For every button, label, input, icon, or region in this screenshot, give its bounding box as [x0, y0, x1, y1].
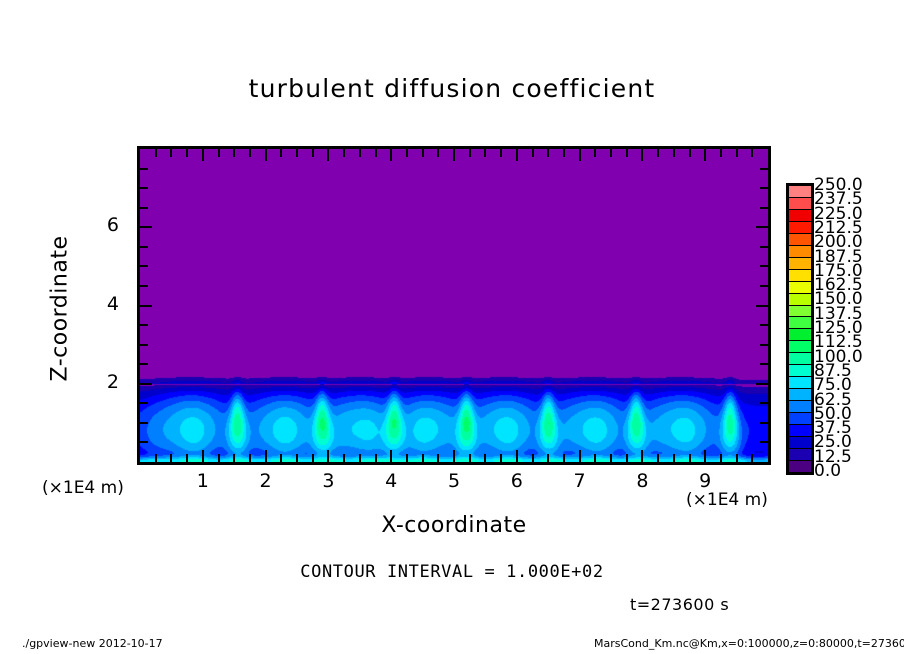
- colorbar-band: [789, 329, 811, 341]
- x-tick: [312, 454, 314, 462]
- colorbar-band: [789, 234, 811, 246]
- colorbar-band: [789, 294, 811, 306]
- x-axis-title: X-coordinate: [137, 513, 771, 538]
- y-tick: [140, 168, 148, 170]
- colorbar-band: [789, 353, 811, 365]
- x-tick: [579, 450, 581, 462]
- x-tick-top: [469, 149, 471, 157]
- y-tick: [140, 305, 152, 307]
- y-tick-right: [760, 441, 768, 443]
- colorbar-band: [789, 246, 811, 258]
- y-tick-right: [756, 383, 768, 385]
- x-tick-label: 7: [560, 470, 600, 492]
- x-tick: [422, 454, 424, 462]
- x-tick: [516, 450, 518, 462]
- y-axis-title: Z-coordinate: [48, 209, 73, 409]
- plot-area[interactable]: [137, 146, 771, 465]
- x-tick-top: [170, 149, 172, 157]
- x-tick: [469, 454, 471, 462]
- x-tick: [265, 450, 267, 462]
- x-tick: [186, 454, 188, 462]
- x-tick: [406, 454, 408, 462]
- x-tick: [500, 454, 502, 462]
- x-tick-top: [359, 149, 361, 157]
- x-tick-top: [218, 149, 220, 157]
- x-tick: [155, 454, 157, 462]
- x-tick-top: [312, 149, 314, 157]
- x-tick-top: [280, 149, 282, 157]
- y-tick-right: [760, 246, 768, 248]
- y-tick: [140, 383, 152, 385]
- x-tick: [280, 454, 282, 462]
- x-tick-top: [296, 149, 298, 157]
- y-tick-right: [760, 363, 768, 365]
- x-tick: [343, 454, 345, 462]
- x-unit-left-label: (×1E4 m): [42, 478, 124, 498]
- x-tick-top: [594, 149, 596, 157]
- page-title: turbulent diffusion coefficient: [0, 74, 904, 103]
- y-tick-right: [760, 187, 768, 189]
- x-tick: [453, 450, 455, 462]
- y-tick-label: 4: [85, 293, 119, 315]
- x-tick: [390, 450, 392, 462]
- colorbar-band: [789, 270, 811, 282]
- colorbar-band: [789, 425, 811, 437]
- colorbar-band: [789, 186, 811, 198]
- y-tick-right: [756, 226, 768, 228]
- x-tick: [736, 454, 738, 462]
- x-tick: [359, 454, 361, 462]
- colorbar-band: [789, 306, 811, 318]
- x-tick-top: [422, 149, 424, 157]
- x-tick: [641, 450, 643, 462]
- y-tick: [140, 226, 152, 228]
- y-tick: [140, 344, 148, 346]
- x-tick-top: [532, 149, 534, 157]
- y-tick-right: [760, 344, 768, 346]
- x-tick: [375, 454, 377, 462]
- x-tick-top: [406, 149, 408, 157]
- time-stamp-label: t=273600 s: [630, 595, 729, 614]
- x-tick: [673, 454, 675, 462]
- colorbar-band: [789, 461, 811, 472]
- x-tick-top: [453, 149, 455, 161]
- colorbar-band: [789, 222, 811, 234]
- x-tick-top: [155, 149, 157, 157]
- y-tick: [140, 207, 148, 209]
- x-tick-top: [720, 149, 722, 157]
- x-tick: [327, 450, 329, 462]
- x-tick-top: [673, 149, 675, 157]
- y-tick-right: [760, 285, 768, 287]
- colorbar-band: [789, 317, 811, 329]
- x-tick-top: [500, 149, 502, 157]
- colorbar[interactable]: [786, 183, 814, 475]
- x-tick-top: [610, 149, 612, 157]
- x-tick-top: [736, 149, 738, 157]
- x-tick-top: [390, 149, 392, 161]
- y-tick-right: [760, 207, 768, 209]
- x-tick-top: [233, 149, 235, 157]
- x-tick: [437, 454, 439, 462]
- x-tick-top: [343, 149, 345, 157]
- y-tick: [140, 246, 148, 248]
- x-tick-top: [689, 149, 691, 157]
- x-tick-top: [751, 149, 753, 157]
- x-tick-label: 1: [183, 470, 223, 492]
- y-tick: [140, 324, 148, 326]
- x-tick-label: 3: [308, 470, 348, 492]
- x-tick: [170, 454, 172, 462]
- x-tick: [626, 454, 628, 462]
- x-tick: [233, 454, 235, 462]
- x-tick: [547, 454, 549, 462]
- colorbar-band: [789, 389, 811, 401]
- x-tick-top: [186, 149, 188, 157]
- contour-interval-label: CONTOUR INTERVAL = 1.000E+02: [0, 562, 904, 582]
- x-tick: [563, 454, 565, 462]
- x-tick-label: 2: [246, 470, 286, 492]
- x-tick: [751, 454, 753, 462]
- y-tick-right: [760, 168, 768, 170]
- x-tick-top: [202, 149, 204, 161]
- y-tick-label: 2: [85, 371, 119, 393]
- x-tick-top: [704, 149, 706, 161]
- x-tick-top: [265, 149, 267, 161]
- x-tick-top: [657, 149, 659, 157]
- colorbar-tick-label: 0.0: [814, 461, 884, 481]
- x-tick-top: [547, 149, 549, 157]
- x-tick-top: [516, 149, 518, 161]
- x-tick-label: 5: [434, 470, 474, 492]
- colorbar-band: [789, 377, 811, 389]
- y-tick: [140, 265, 148, 267]
- x-tick-top: [579, 149, 581, 161]
- x-tick: [218, 454, 220, 462]
- y-tick: [140, 402, 148, 404]
- y-tick-right: [760, 265, 768, 267]
- x-unit-right-label: (×1E4 m): [686, 490, 768, 510]
- x-tick: [594, 454, 596, 462]
- colorbar-band: [789, 258, 811, 270]
- footer-command-label: ./gpview-new 2012-10-17: [22, 637, 163, 650]
- y-tick-right: [760, 324, 768, 326]
- y-tick: [140, 285, 148, 287]
- x-tick: [720, 454, 722, 462]
- x-tick: [202, 450, 204, 462]
- x-tick-label: 4: [371, 470, 411, 492]
- y-tick: [140, 441, 148, 443]
- x-tick-top: [437, 149, 439, 157]
- colorbar-band: [789, 437, 811, 449]
- x-tick-top: [375, 149, 377, 157]
- x-tick: [657, 454, 659, 462]
- x-tick: [532, 454, 534, 462]
- footer-source-label: MarsCond_Km.nc@Km,x=0:100000,z=0:80000,t…: [594, 637, 904, 650]
- x-tick-label: 8: [622, 470, 662, 492]
- colorbar-band: [789, 401, 811, 413]
- colorbar-band: [789, 282, 811, 294]
- y-tick-right: [756, 305, 768, 307]
- x-tick: [249, 454, 251, 462]
- colorbar-band: [789, 210, 811, 222]
- x-tick-top: [641, 149, 643, 161]
- x-tick-top: [626, 149, 628, 157]
- x-tick-top: [327, 149, 329, 161]
- x-tick: [610, 454, 612, 462]
- colorbar-band: [789, 449, 811, 461]
- x-tick-top: [249, 149, 251, 157]
- y-tick: [140, 422, 148, 424]
- y-tick: [140, 363, 148, 365]
- colorbar-band: [789, 198, 811, 210]
- x-tick-label: 9: [685, 470, 725, 492]
- y-tick: [140, 187, 148, 189]
- x-tick: [296, 454, 298, 462]
- x-tick: [704, 450, 706, 462]
- y-tick-right: [760, 402, 768, 404]
- x-tick: [484, 454, 486, 462]
- x-tick-label: 6: [497, 470, 537, 492]
- y-tick-label: 6: [85, 214, 119, 236]
- x-tick-top: [484, 149, 486, 157]
- heatmap-canvas: [140, 149, 768, 462]
- y-tick-right: [760, 422, 768, 424]
- colorbar-band: [789, 365, 811, 377]
- colorbar-band: [789, 341, 811, 353]
- x-tick: [689, 454, 691, 462]
- colorbar-band: [789, 413, 811, 425]
- x-tick-top: [563, 149, 565, 157]
